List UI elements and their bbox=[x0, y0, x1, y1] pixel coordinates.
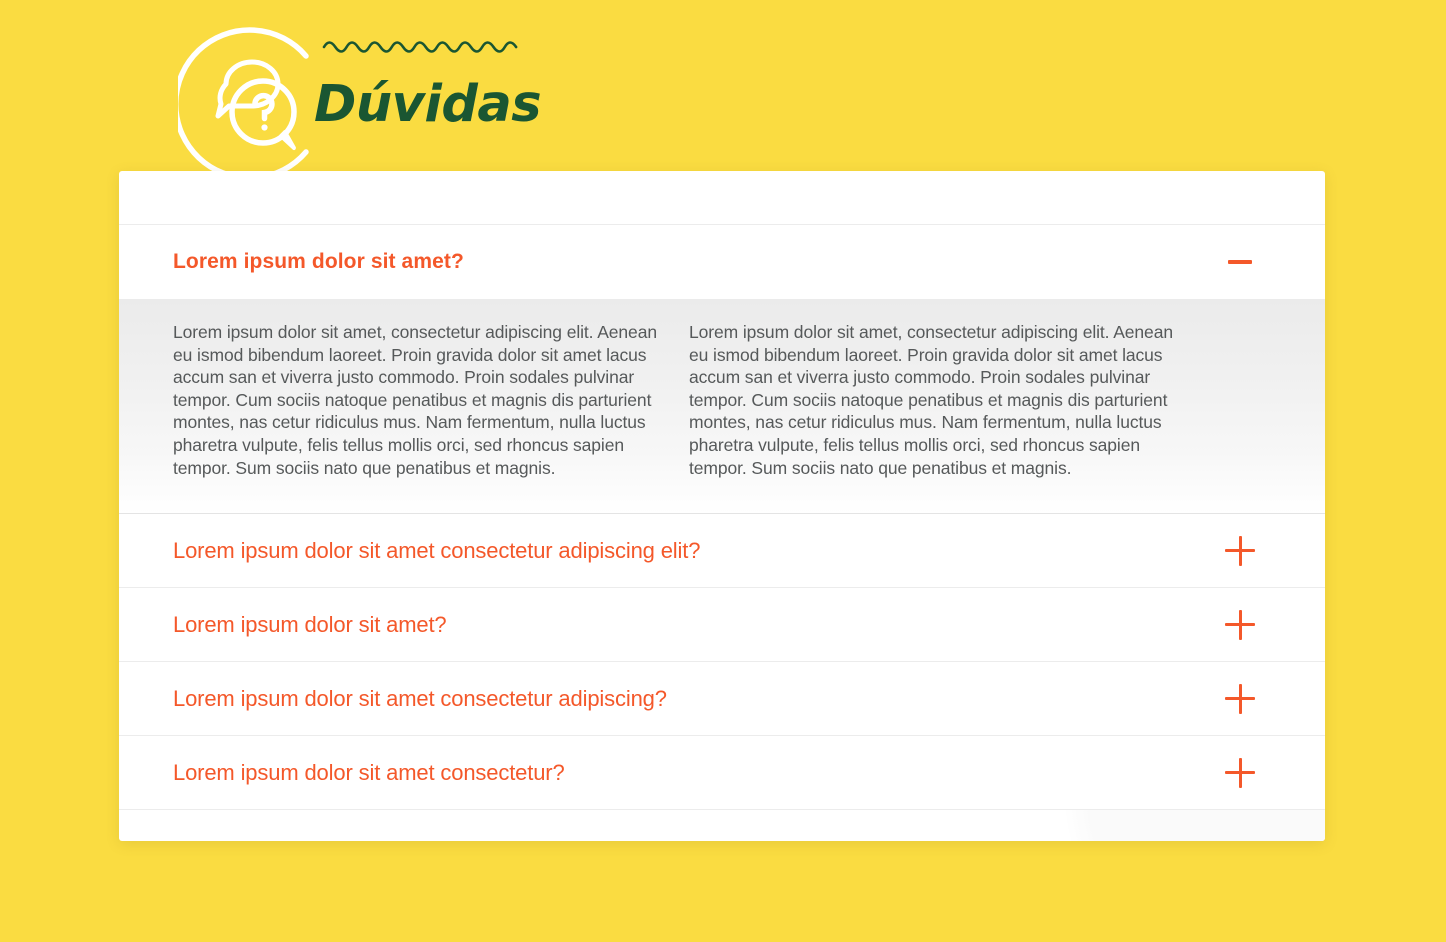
faq-item: Lorem ipsum dolor sit amet consectetur a… bbox=[119, 662, 1325, 736]
card-top-spacer bbox=[119, 171, 1325, 225]
faq-item: Lorem ipsum dolor sit amet consectetur a… bbox=[119, 514, 1325, 588]
faq-question-header[interactable]: Lorem ipsum dolor sit amet? bbox=[119, 588, 1325, 662]
faq-question-label: Lorem ipsum dolor sit amet consectetur? bbox=[173, 760, 565, 786]
faq-question-header[interactable]: Lorem ipsum dolor sit amet? bbox=[119, 225, 1325, 299]
plus-bar bbox=[1239, 536, 1242, 566]
plus-bar bbox=[1239, 684, 1242, 714]
faq-question-label: Lorem ipsum dolor sit amet? bbox=[173, 249, 464, 275]
page-title: Dúvidas bbox=[314, 74, 541, 136]
faq-item: Lorem ipsum dolor sit amet? bbox=[119, 588, 1325, 662]
faq-answer-column: Lorem ipsum dolor sit amet, consectetur … bbox=[173, 321, 669, 479]
faq-item: Lorem ipsum dolor sit amet? Lorem ipsum … bbox=[119, 225, 1325, 514]
faq-question-header[interactable]: Lorem ipsum dolor sit amet consectetur a… bbox=[119, 514, 1325, 588]
card-bottom-spacer bbox=[119, 810, 1325, 841]
faq-question-label: Lorem ipsum dolor sit amet consectetur a… bbox=[173, 538, 700, 564]
plus-icon[interactable] bbox=[1225, 536, 1255, 566]
page-header: Dúvidas bbox=[0, 0, 1446, 171]
plus-icon[interactable] bbox=[1225, 684, 1255, 714]
faq-item: Lorem ipsum dolor sit amet consectetur? bbox=[119, 736, 1325, 810]
faq-card: Lorem ipsum dolor sit amet? Lorem ipsum … bbox=[119, 171, 1325, 841]
faq-question-header[interactable]: Lorem ipsum dolor sit amet consectetur a… bbox=[119, 662, 1325, 736]
minus-bar bbox=[1228, 260, 1252, 264]
faq-question-header[interactable]: Lorem ipsum dolor sit amet consectetur? bbox=[119, 736, 1325, 810]
plus-bar bbox=[1239, 610, 1242, 640]
faq-question-label: Lorem ipsum dolor sit amet consectetur a… bbox=[173, 686, 667, 712]
minus-icon[interactable] bbox=[1225, 247, 1255, 277]
faq-question-label: Lorem ipsum dolor sit amet? bbox=[173, 612, 447, 638]
faq-answer-panel: Lorem ipsum dolor sit amet, consectetur … bbox=[119, 299, 1325, 514]
plus-icon[interactable] bbox=[1225, 610, 1255, 640]
plus-bar bbox=[1239, 758, 1242, 788]
faq-answer-column: Lorem ipsum dolor sit amet, consectetur … bbox=[689, 321, 1185, 479]
wavy-line-icon bbox=[322, 36, 522, 54]
chat-bubbles-question-icon bbox=[178, 26, 334, 182]
plus-icon[interactable] bbox=[1225, 758, 1255, 788]
